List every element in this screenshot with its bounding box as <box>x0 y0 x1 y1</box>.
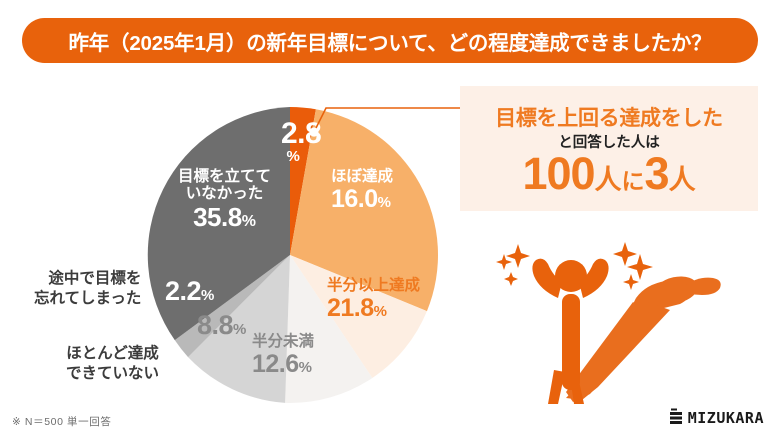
pie-value-35-8: 35.8 <box>193 202 242 232</box>
pie-label-text-6-line2: いなかった <box>178 185 271 202</box>
pie-percent-sign-1: % <box>378 194 391 211</box>
mizukara-logo: MIZUKARA <box>670 408 764 427</box>
outside-label-tochu-line2: 忘れてしまった <box>34 289 141 309</box>
sparkle-icon-4 <box>613 242 637 266</box>
pie-label-mokuhyo-tatetenai: 目標を立てて いなかった 35.8% <box>178 168 271 232</box>
chart-footnote: ※ N＝500 単一回答 <box>12 414 111 429</box>
leader-anchor-dot <box>309 127 318 136</box>
celebrating-person-illustration <box>470 232 770 407</box>
pie-percent-sign-4: % <box>233 321 246 338</box>
pie-value-16-0: 16.0 <box>331 185 378 213</box>
pie-label-text-3: 半分未満 <box>252 333 314 350</box>
callout-unit-2: 人 <box>669 165 696 195</box>
sparkle-icon-6 <box>623 274 639 290</box>
callout-box: 目標を上回る達成をした と回答した人は 100人に3人 <box>460 86 758 211</box>
pie-percent-sign-6: % <box>242 213 256 230</box>
pie-percent-sign-3: % <box>299 359 312 376</box>
pie-value-2-2: 2.2 <box>165 276 201 306</box>
outside-label-tochu-line1: 途中で目標を <box>34 269 141 289</box>
pie-percent-sign-5: % <box>201 287 214 304</box>
pie-value-21-8: 21.8 <box>327 294 374 322</box>
logo-wordmark: MIZUKARA <box>688 409 764 427</box>
callout-number-100: 100 <box>522 148 594 199</box>
callout-unit-1: 人 <box>595 165 622 195</box>
pie-label-hotondo-value: 8.8% <box>197 310 246 340</box>
pie-label-hanbun-miman: 半分未満 12.6% <box>252 333 314 378</box>
callout-line3: 100人に3人 <box>460 148 758 200</box>
callout-number-3: 3 <box>645 148 669 199</box>
logo-mark-icon <box>670 408 684 427</box>
pie-percent-sign-2: % <box>374 303 387 320</box>
sparkle-icon-1 <box>506 244 530 268</box>
pie-label-text-6-line1: 目標を立てて <box>178 168 271 185</box>
outside-label-hotondo-line1: ほとんど達成 <box>66 344 159 364</box>
pie-label-tochu-value: 2.2% <box>165 276 214 306</box>
pie-label-hobo-tassei: ほぼ達成 16.0% <box>331 168 393 213</box>
outside-label-hotondo: ほとんど達成 できていない <box>66 344 159 384</box>
pie-label-hanbun-ijo-tassei: 半分以上達成 21.8% <box>327 277 420 322</box>
pie-label-text-2: 半分以上達成 <box>327 277 420 294</box>
header-banner: 昨年（2025年1月）の新年目標について、どの程度達成できましたか？ <box>22 18 758 63</box>
sparkle-icon-3 <box>504 272 518 286</box>
pie-value-8-8: 8.8 <box>197 310 233 340</box>
pie-value-12-6: 12.6 <box>252 350 299 378</box>
pie-label-text-1: ほぼ達成 <box>331 168 393 185</box>
outside-label-tochu: 途中で目標を 忘れてしまった <box>34 269 141 309</box>
outside-label-hotondo-line2: できていない <box>66 364 159 384</box>
callout-line1: 目標を上回る達成をした <box>460 102 758 132</box>
page-title: 昨年（2025年1月）の新年目標について、どの程度達成できましたか？ <box>68 26 711 56</box>
callout-connector: に <box>622 168 645 194</box>
